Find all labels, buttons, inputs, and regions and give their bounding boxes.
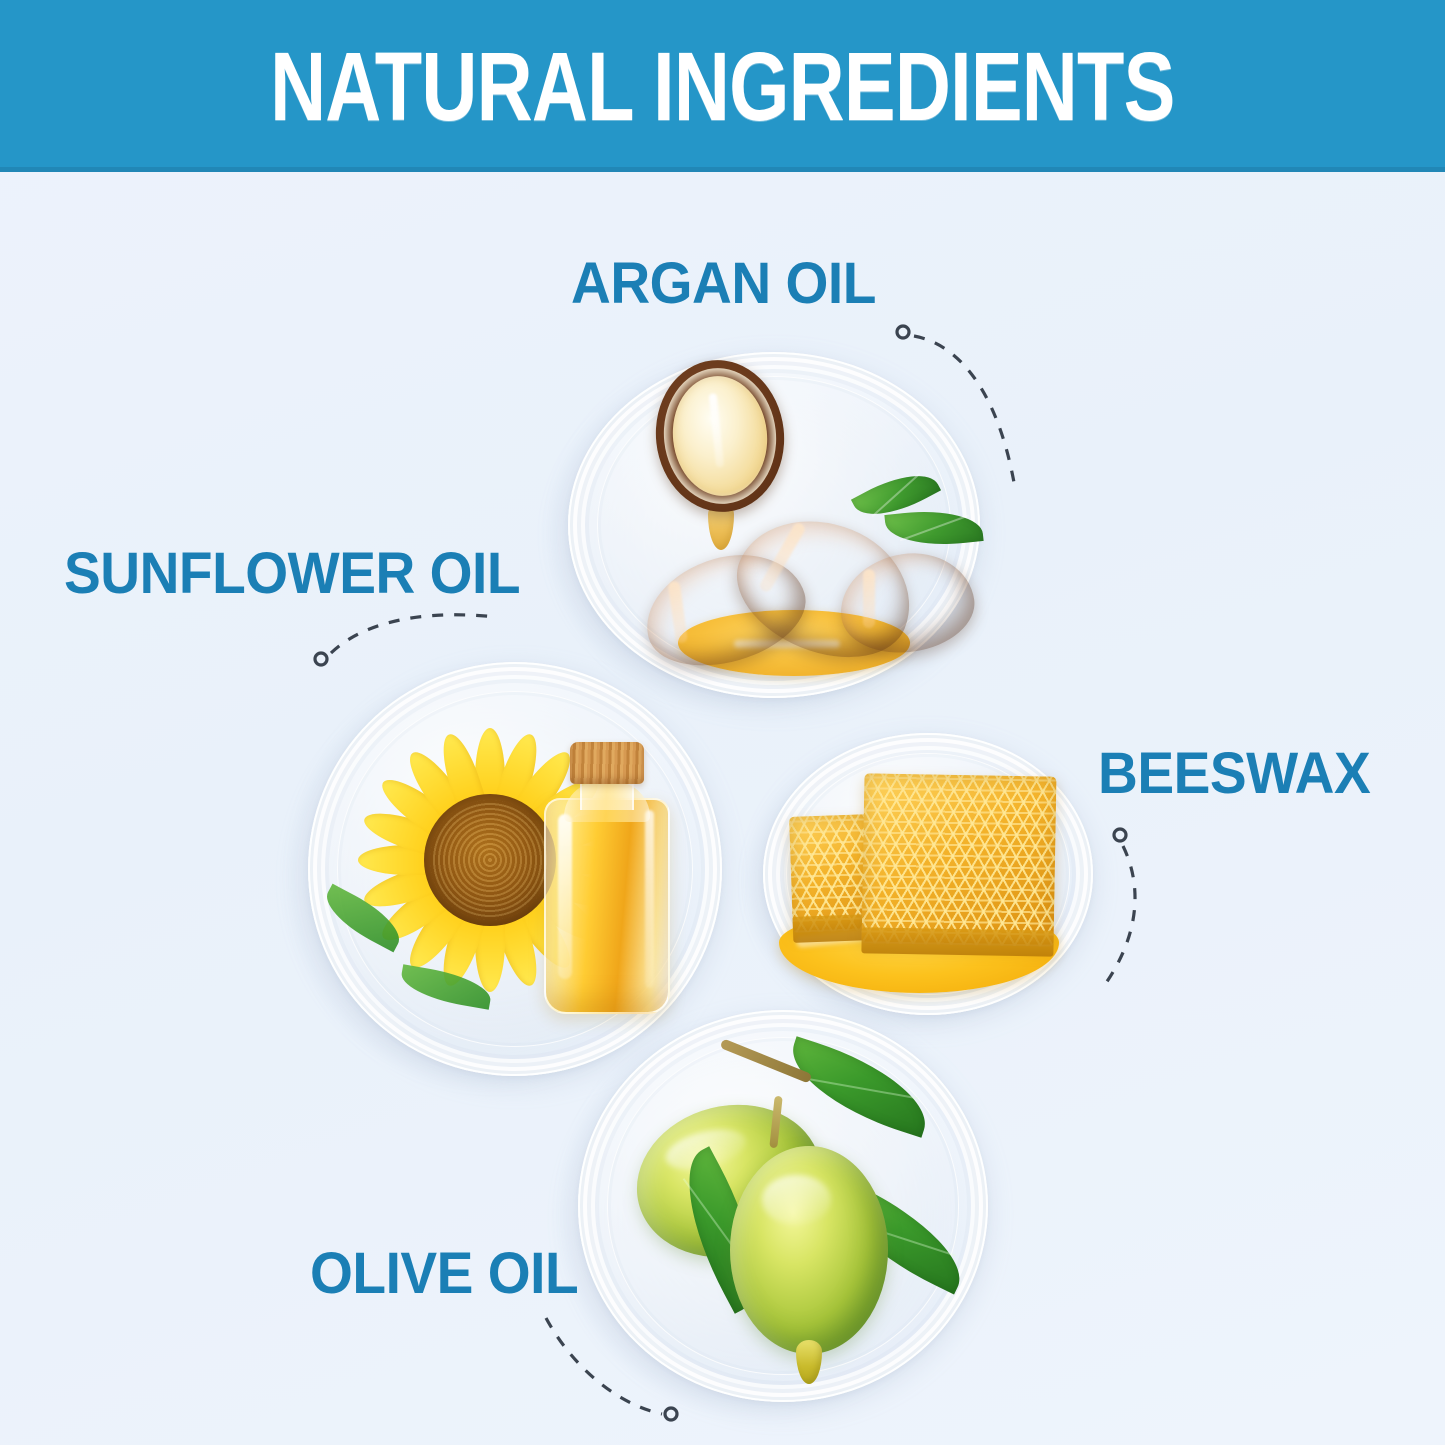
ingredient-label-olive-oil: OLIVE OIL: [310, 1245, 578, 1303]
header-banner: NATURAL INGREDIENTS: [0, 0, 1445, 172]
ingredient-label-beeswax: BEESWAX: [1098, 745, 1370, 803]
infographic-canvas: NATURAL INGREDIENTS: [0, 0, 1445, 1445]
ingredient-label-argan-oil: ARGAN OIL: [571, 255, 876, 313]
petri-dish-beeswax: [763, 733, 1093, 1015]
connector-beeswax: [1050, 815, 1180, 995]
connector-olive: [520, 1300, 740, 1440]
ingredient-label-sunflower-oil: SUNFLOWER OIL: [64, 545, 520, 603]
connector-argan: [880, 318, 1060, 508]
connector-sunflower: [300, 605, 520, 695]
petri-dish-sunflower: [308, 662, 722, 1076]
header-bottom-edge: [0, 167, 1445, 172]
page-title: NATURAL INGREDIENTS: [270, 38, 1175, 135]
